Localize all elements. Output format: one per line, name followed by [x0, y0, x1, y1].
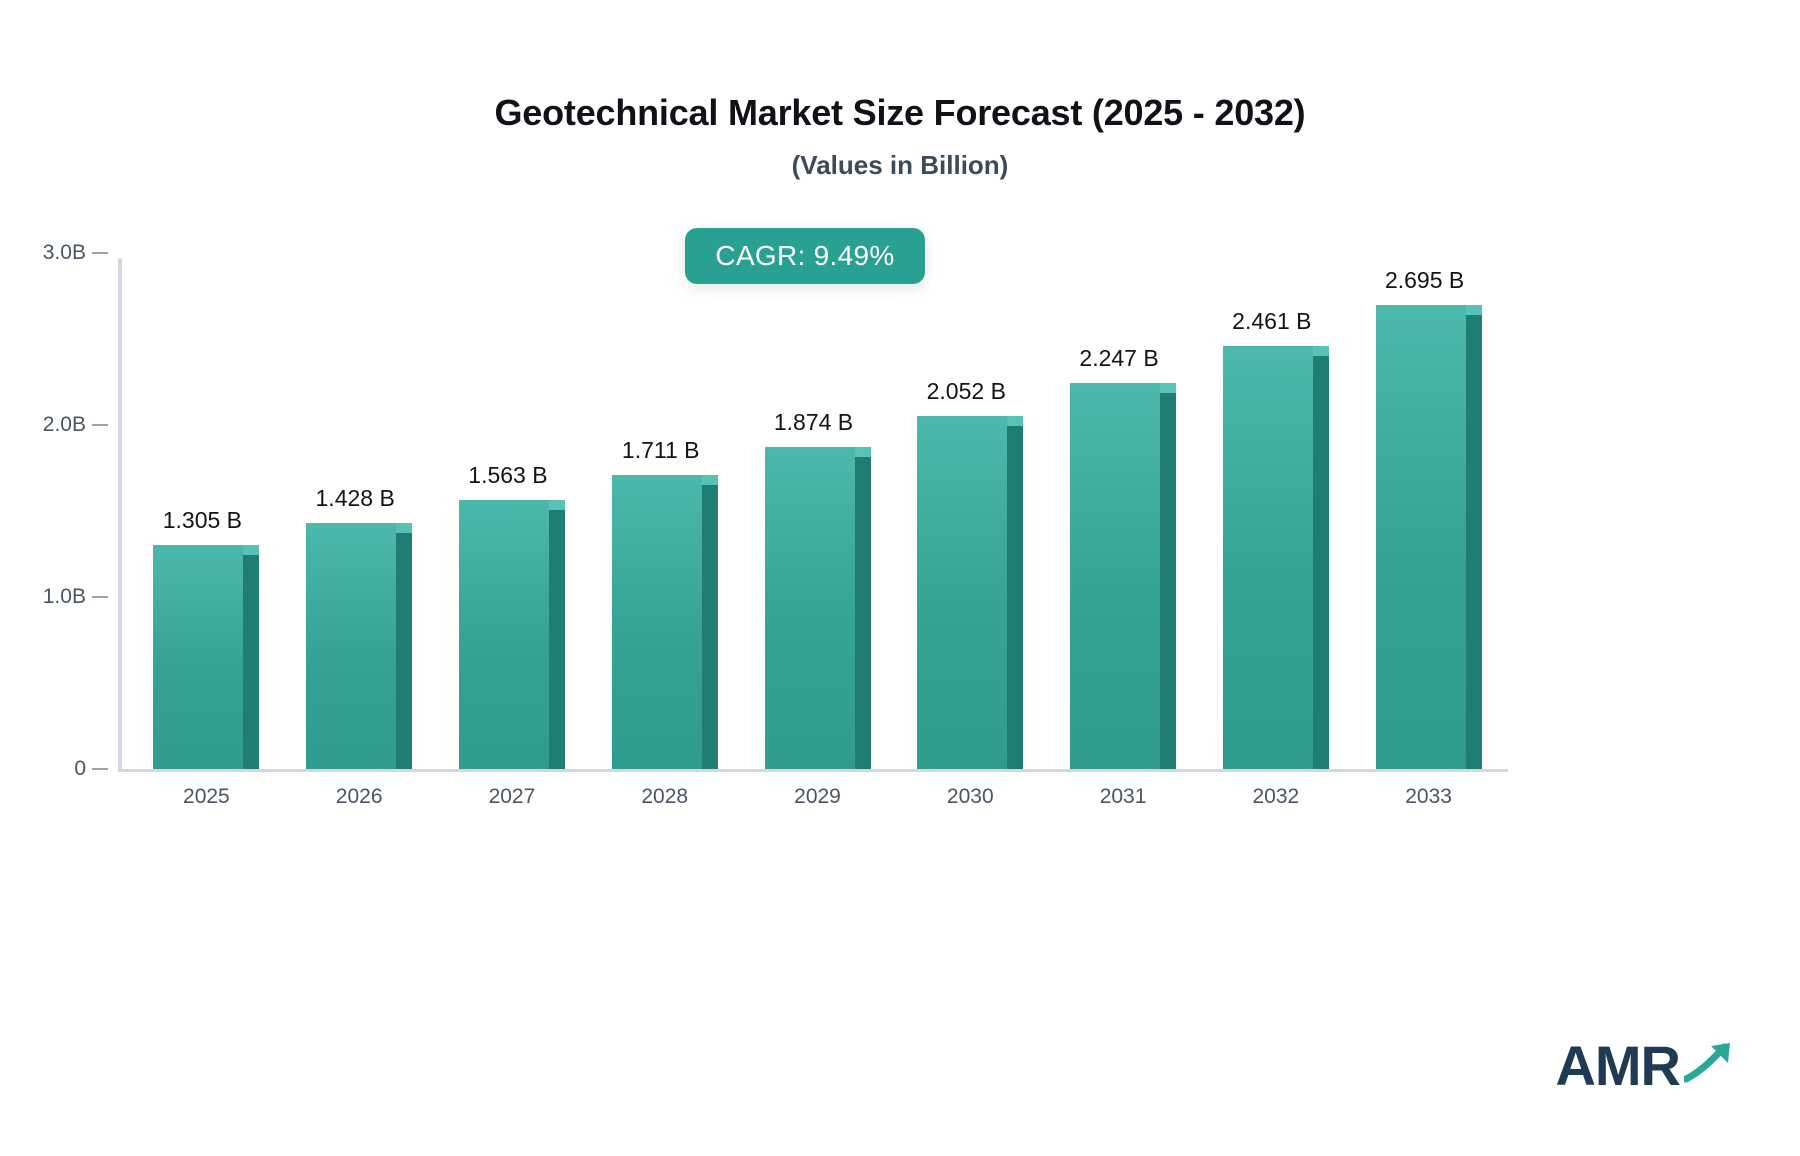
x-axis-tick-label: 2029 — [794, 785, 841, 809]
bar-top-face — [1466, 305, 1482, 315]
bar-value-label: 2.247 B — [1079, 345, 1158, 372]
amr-wordmark: AMR — [1555, 1038, 1680, 1094]
bar[interactable] — [612, 475, 718, 769]
cagr-badge: CAGR: 9.49% — [685, 228, 925, 284]
bar-value-label: 1.563 B — [468, 462, 547, 489]
bar-value-label: 1.305 B — [163, 507, 242, 534]
bar-top-face — [243, 545, 259, 555]
bar-side-face — [1466, 315, 1482, 769]
x-axis-tick-label: 2026 — [336, 785, 383, 809]
bar[interactable] — [1223, 346, 1329, 769]
bar-value-label: 1.428 B — [316, 485, 395, 512]
bar-side-face — [396, 533, 412, 769]
bar-value-label: 2.052 B — [927, 378, 1006, 405]
bar-side-face — [1160, 393, 1176, 769]
bar-top-face — [702, 475, 718, 485]
bar-side-face — [243, 555, 259, 769]
bar[interactable] — [1376, 305, 1482, 769]
bar-top-face — [1313, 346, 1329, 356]
x-axis-tick-label: 2025 — [183, 785, 230, 809]
bar-side-face — [1007, 426, 1023, 769]
x-axis-tick-label: 2033 — [1405, 785, 1452, 809]
bar[interactable] — [153, 545, 259, 769]
x-axis-tick-label: 2028 — [641, 785, 688, 809]
growth-arrow-icon — [1684, 1039, 1738, 1088]
bar[interactable] — [1070, 383, 1176, 769]
x-axis-tick-label: 2030 — [947, 785, 994, 809]
bar-top-face — [1007, 416, 1023, 426]
bar[interactable] — [917, 416, 1023, 769]
bar[interactable] — [459, 500, 565, 769]
bar-side-face — [855, 457, 871, 769]
bar[interactable] — [765, 447, 871, 769]
bar-value-label: 1.711 B — [622, 437, 700, 464]
amr-logo: AMR — [1555, 1038, 1738, 1094]
x-axis-tick-label: 2031 — [1100, 785, 1147, 809]
bars-layer: 1.305 B20251.428 B20261.563 B20271.711 B… — [0, 0, 1800, 1156]
bar-top-face — [396, 523, 412, 533]
bar-side-face — [1313, 356, 1329, 769]
x-axis-tick-label: 2032 — [1252, 785, 1299, 809]
bar-side-face — [702, 485, 718, 769]
bar-value-label: 1.874 B — [774, 409, 853, 436]
bar-top-face — [855, 447, 871, 457]
bar-side-face — [549, 510, 565, 769]
bar-value-label: 2.461 B — [1232, 308, 1311, 335]
bar-value-label: 2.695 B — [1385, 267, 1464, 294]
x-axis-tick-label: 2027 — [489, 785, 536, 809]
bar[interactable] — [306, 523, 412, 769]
bar-top-face — [1160, 383, 1176, 393]
bar-top-face — [549, 500, 565, 510]
